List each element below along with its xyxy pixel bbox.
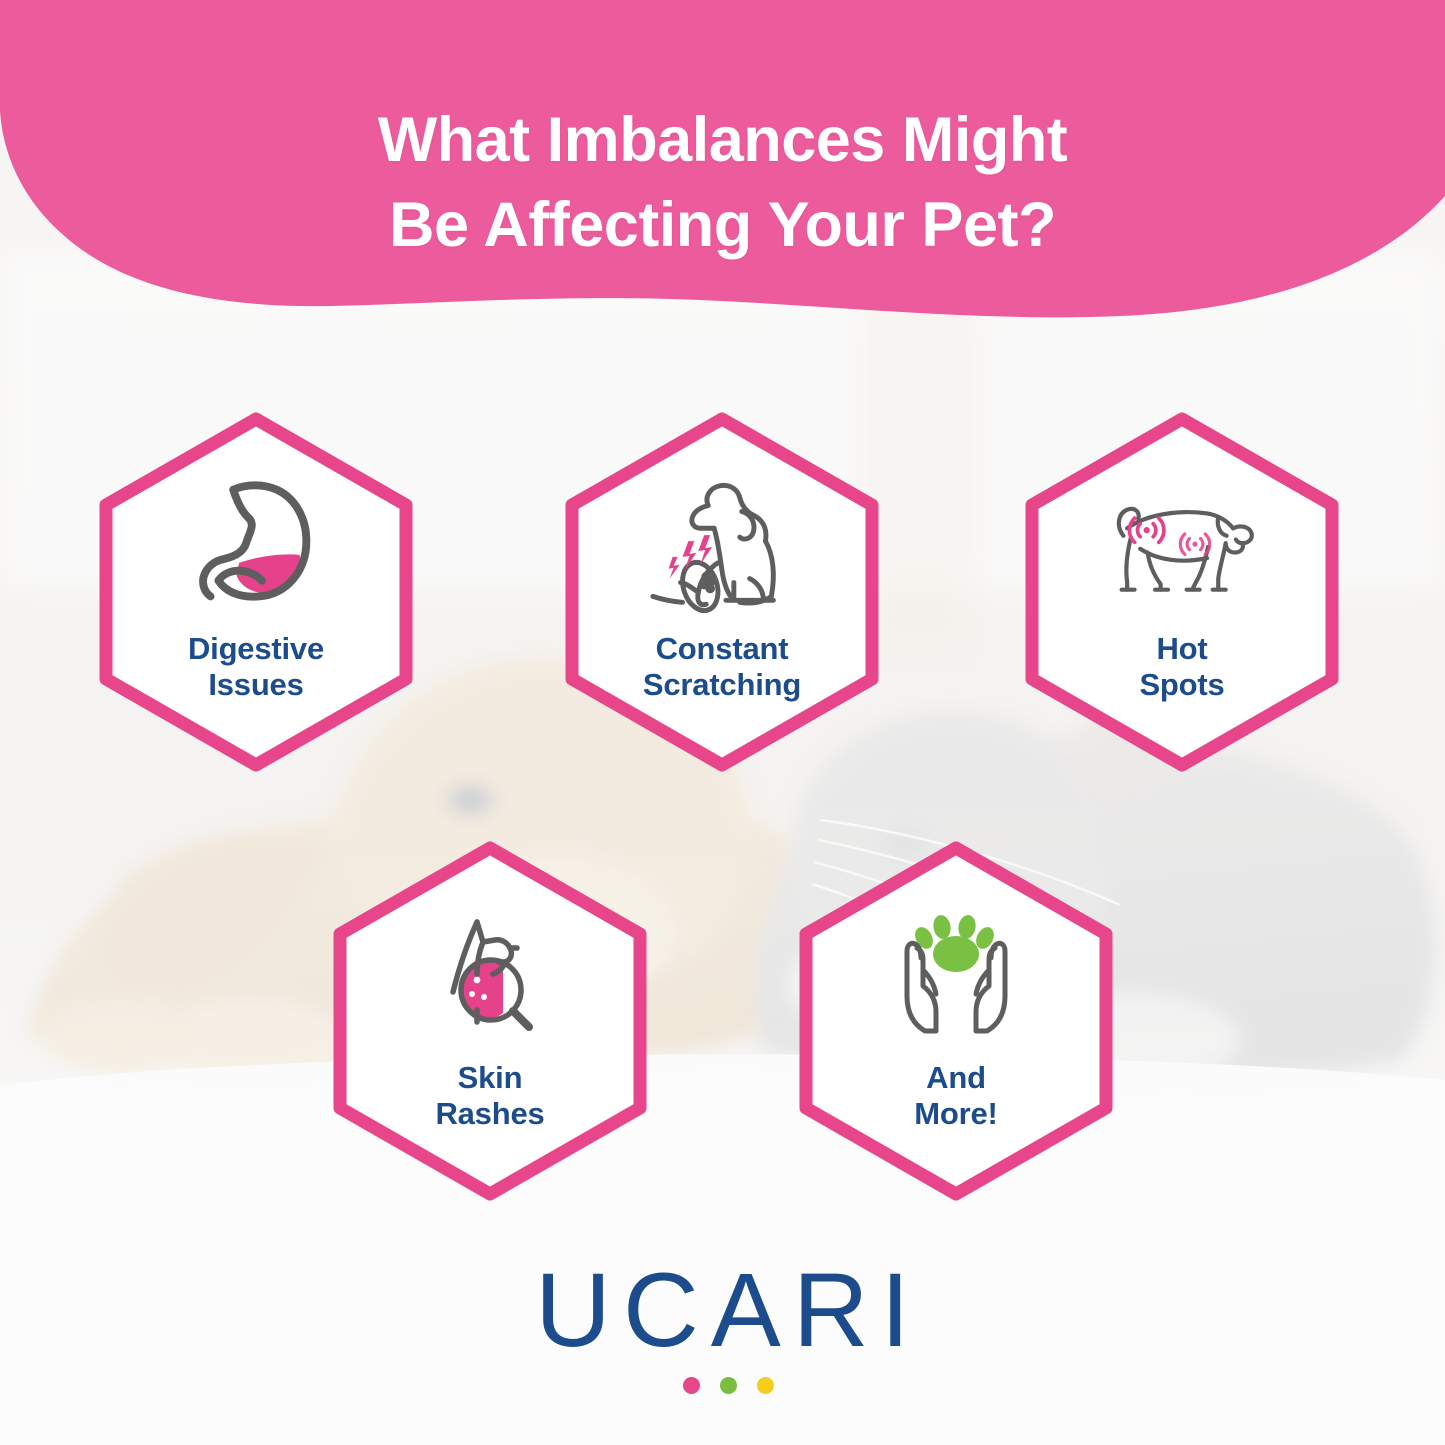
hexagon-card-digestive-issues[interactable]: Digestive Issues [88,409,424,775]
hexagon-card-skin-rashes[interactable]: Skin Rashes [322,838,658,1204]
dog-hotspots-icon [1103,471,1261,621]
ucari-wordmark: UCARI [0,1258,1445,1363]
hexagon-label-constant-scratching: Constant Scratching [643,631,801,704]
dot-yellow-icon [757,1377,774,1394]
page-title: What Imbalances Might Be Affecting Your … [0,98,1445,267]
hexagon-label-hot-spots: Hot Spots [1139,631,1224,704]
hexagon-label-digestive-issues: Digestive Issues [188,631,324,704]
poster-root: What Imbalances Might Be Affecting Your … [0,0,1445,1445]
hexagon-card-constant-scratching[interactable]: Constant Scratching [554,409,890,775]
title-line-1: What Imbalances Might [378,105,1068,175]
scratching-dog-icon [643,471,801,621]
hexagon-card-and-more[interactable]: And More! [788,838,1124,1204]
hands-paw-icon [877,900,1035,1050]
ucari-logo-dots [0,1377,1445,1394]
dog-magnifier-rash-icon [411,900,569,1050]
dot-green-icon [720,1377,737,1394]
title-line-2: Be Affecting Your Pet? [0,183,1445,267]
hexagon-label-and-more: And More! [914,1060,997,1133]
dot-pink-icon [683,1377,700,1394]
ucari-logo: UCARI [0,1258,1445,1394]
hexagon-label-skin-rashes: Skin Rashes [435,1060,544,1133]
hexagon-card-hot-spots[interactable]: Hot Spots [1014,409,1350,775]
stomach-icon [177,471,335,621]
